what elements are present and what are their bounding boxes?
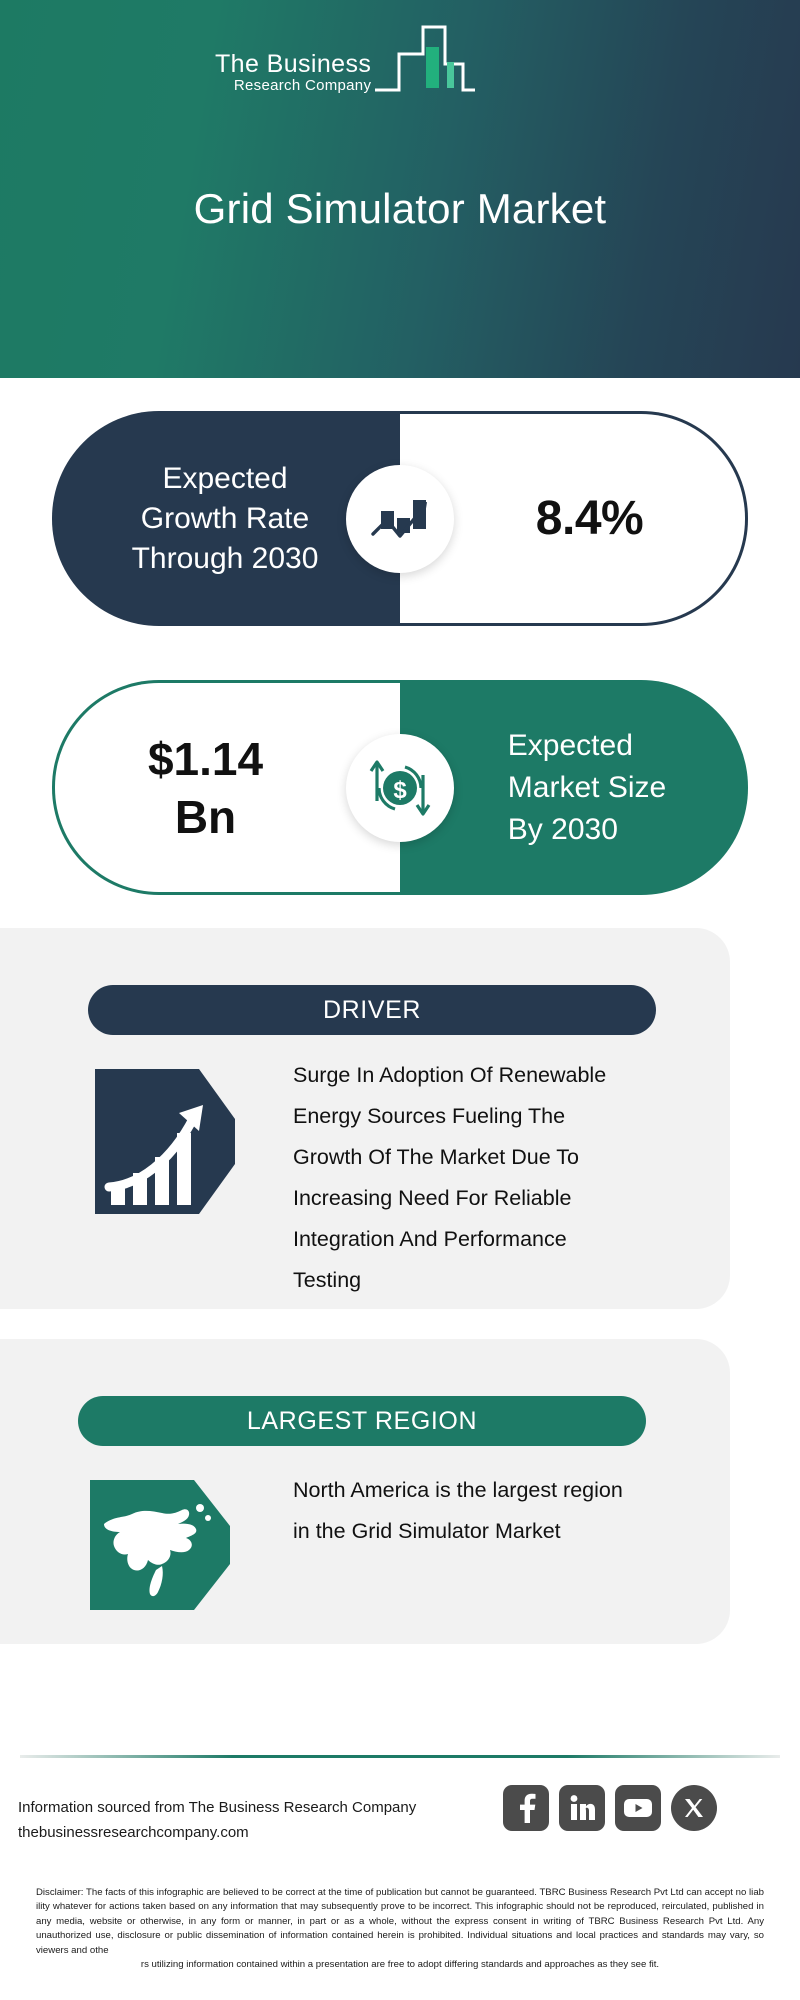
stat-card-growth-rate-value: 8.4% bbox=[502, 491, 643, 546]
header-banner: The Business Research Company Grid Simul… bbox=[0, 0, 800, 378]
largest-region-pill-label: LARGEST REGION bbox=[247, 1407, 477, 1436]
disclaimer-line: rs utilizing information contained withi… bbox=[36, 1958, 764, 1972]
facebook-icon[interactable] bbox=[503, 1785, 549, 1831]
footer-source-website[interactable]: thebusinessresearchcompany.com bbox=[18, 1820, 416, 1845]
driver-pill: DRIVER bbox=[88, 985, 656, 1035]
disclaimer-line: use, disclosure or public dissemination … bbox=[36, 1930, 764, 1955]
stat-card-growth-rate: Expected Growth Rate Through 2030 8.4% bbox=[52, 411, 748, 626]
youtube-icon[interactable] bbox=[615, 1785, 661, 1831]
growth-arrow-tag-icon bbox=[95, 1069, 235, 1214]
stat-label-line: By 2030 bbox=[508, 809, 666, 851]
largest-region-pill: LARGEST REGION bbox=[78, 1396, 646, 1446]
footer-source-line-1: Information sourced from The Business Re… bbox=[18, 1795, 416, 1820]
stat-label-line: Through 2030 bbox=[132, 539, 319, 579]
social-links bbox=[503, 1785, 717, 1831]
stat-label-line: Growth Rate bbox=[132, 499, 319, 539]
infographic-page: The Business Research Company Grid Simul… bbox=[0, 0, 800, 2000]
north-america-map-tag-icon bbox=[90, 1480, 230, 1625]
stat-card-growth-rate-label: Expected Growth Rate Through 2030 bbox=[108, 459, 345, 579]
logo-line-1: The Business bbox=[215, 51, 371, 77]
footer-source: Information sourced from The Business Re… bbox=[18, 1795, 416, 1845]
disclaimer-line: Disclaimer: The facts of this infographi… bbox=[36, 1887, 764, 1898]
stat-label-line: Expected bbox=[508, 725, 666, 767]
disclaimer-line: ility whatever for actions taken based o… bbox=[36, 1901, 764, 1912]
largest-region-body-text: North America is the largest region in t… bbox=[293, 1470, 623, 1552]
disclaimer-text: Disclaimer: The facts of this infographi… bbox=[36, 1886, 764, 1972]
dollar-cycle-icon: $ bbox=[346, 734, 454, 842]
svg-text:$: $ bbox=[393, 777, 407, 804]
driver-pill-label: DRIVER bbox=[323, 996, 421, 1025]
footer-divider bbox=[20, 1755, 780, 1758]
x-twitter-icon[interactable] bbox=[671, 1785, 717, 1831]
stat-value-line: $1.14 bbox=[148, 730, 263, 788]
stat-label-line: Market Size bbox=[508, 767, 666, 809]
bar-chart-logo-mark bbox=[373, 22, 477, 99]
stat-label-line: Expected bbox=[132, 459, 319, 499]
stat-value-line: Bn bbox=[148, 788, 263, 846]
logo-line-2: Research Company bbox=[234, 77, 371, 95]
stat-card-market-size-label: Expected Market Size By 2030 bbox=[468, 725, 680, 851]
linkedin-icon[interactable] bbox=[559, 1785, 605, 1831]
page-title: Grid Simulator Market bbox=[0, 185, 800, 233]
growth-bar-chart-arrow-icon bbox=[346, 465, 454, 573]
driver-body-text: Surge In Adoption Of Renewable Energy So… bbox=[293, 1055, 638, 1301]
stat-card-market-size-value: $1.14 Bn bbox=[148, 730, 307, 846]
stat-card-market-size: $1.14 Bn Expected Market Size By 2030 $ bbox=[52, 680, 748, 895]
company-logo: The Business Research Company bbox=[215, 22, 477, 101]
logo-wordmark: The Business Research Company bbox=[215, 51, 371, 101]
